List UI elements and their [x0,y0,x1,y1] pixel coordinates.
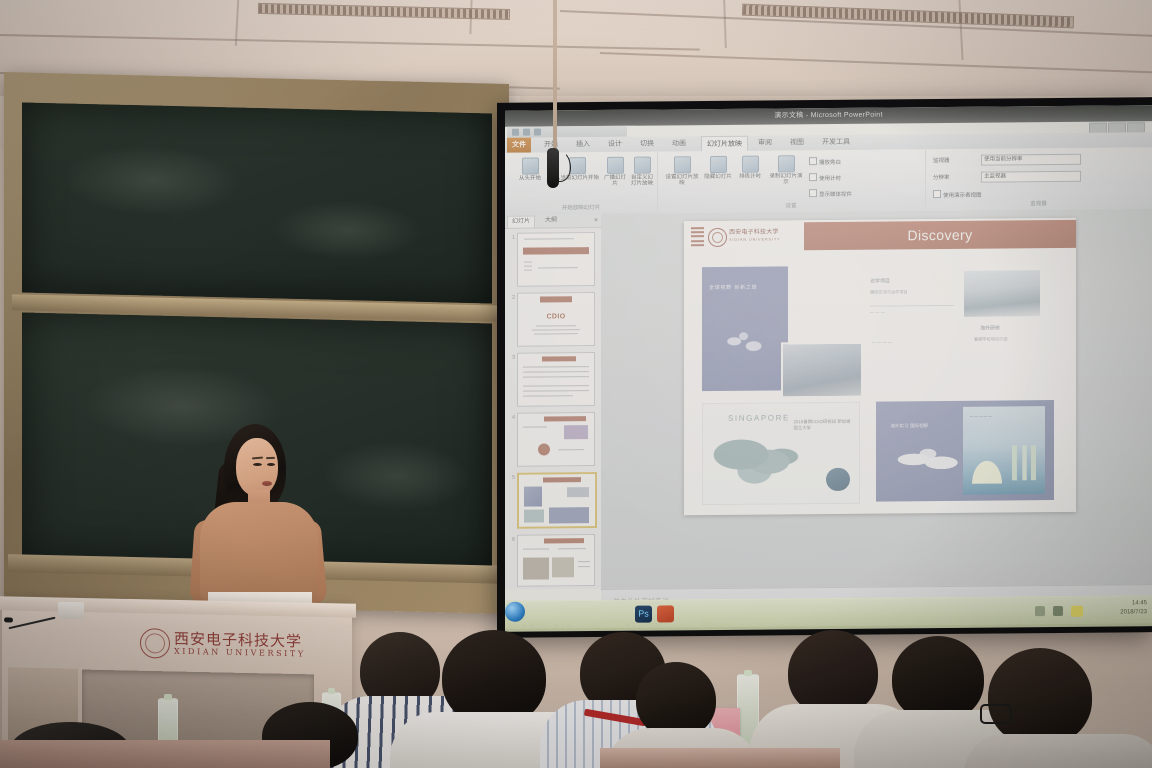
text-block-upper-right-body: 暑期学校项目介绍 [974,336,1048,343]
head [636,662,716,738]
university-seal-icon [708,228,727,247]
clock-date: 2018/7/23 [1120,608,1147,617]
thumbnail-number: 4 [508,415,515,421]
slideshow-start-icon [522,158,539,175]
tray-network-icon[interactable] [1035,606,1045,616]
thumbnail-row[interactable]: 6 [508,534,598,591]
hide-slide-icon [710,156,727,173]
current-slide[interactable]: 西安电子科技大学 XIDIAN UNIVERSITY Discovery 全球视… [684,218,1076,515]
ribbon-button-rehearse[interactable]: 排练计时 [735,156,765,180]
thumbnail-slide-1[interactable] [517,232,595,287]
singapore-map-graphic [712,429,809,492]
singapore-badge [826,467,849,491]
windows-taskbar[interactable]: Ps 14:45 2018/7/23 [505,595,1152,632]
thumbnail-row[interactable]: 1 [508,232,598,289]
ribbon-button-from-beginning[interactable]: 从头开始 [509,157,551,181]
singapore-card-body: 2018暑期CDIO研修班 新加坡国立大学 [793,419,852,432]
ribbon-button-record-narration[interactable]: 录制幻灯片演示 [769,155,803,185]
eyebrow-right [266,457,275,459]
slideshow-current-icon [569,157,586,174]
redo-icon[interactable] [534,129,541,136]
paper-cup [58,602,84,620]
pane-tab-slides[interactable]: 幻灯片 [507,216,535,228]
mouth [262,481,272,486]
singapore-label: SINGAPORE [728,413,790,423]
checkbox-label: 使用计时 [819,176,841,182]
slide-title: Discovery [804,220,1076,250]
select-resolution[interactable]: 主监视器 [981,171,1081,183]
slide-thumbnail-pane[interactable]: 幻灯片 大纲 × 1 2 [505,214,602,590]
thumbnail-row[interactable]: 5 [508,472,598,531]
ribbon-button-hide-slide[interactable]: 隐藏幻灯片 [703,156,733,180]
tab-design[interactable]: 设计 [603,137,627,152]
classroom-presentation-photo: 演示文稿 - Microsoft PowerPoint 文件 开始 插入 设计 … [0,0,1152,768]
eye-right [267,463,275,466]
singapore-card[interactable]: SINGAPORE 2018暑期CDIO研修班 新加坡国立大学 [702,402,860,505]
undo-icon[interactable] [523,129,530,136]
inner-page-text: — — — — — [970,413,1039,420]
eye-left [253,463,262,466]
ribbon-button-broadcast[interactable]: 广播幻灯片 [603,157,627,187]
taskbar-item-photoshop[interactable]: Ps [635,606,652,623]
ribbon-group-label: 开始放映幻灯片 [505,202,657,211]
projected-powerpoint-screen[interactable]: 演示文稿 - Microsoft PowerPoint 文件 开始 插入 设计 … [505,105,1152,629]
checkbox-label: 播放旁白 [819,160,841,166]
photo-thumb-left[interactable] [781,342,863,399]
close-pane-icon[interactable]: × [594,216,598,225]
university-name-en: XIDIAN UNIVERSITY [729,236,781,243]
text-block-left-caption: — — — — [872,339,932,346]
ribbon-button-label: 广播幻灯片 [604,175,626,187]
microphone-cable [553,0,557,150]
tray-ime-icon[interactable] [1071,606,1083,617]
rehearse-timing-icon [742,156,759,173]
ribbon-button-label: 从头开始 [519,176,541,182]
head [988,648,1092,746]
blouse [200,502,318,602]
university-name-cn: 西安电子科技大学 [729,229,779,235]
save-icon[interactable] [512,129,519,136]
thumbnail-slide-3[interactable] [517,352,595,407]
ribbon-group-monitors: 使用当前分辨率 监视器 主监视器 分辨率 使用演示者视图 监视器 [925,148,1152,208]
audience-row: 嵩 [0,630,1152,768]
slide-university-name: 西安电子科技大学 XIDIAN UNIVERSITY [729,229,781,243]
ribbon-button-label: 录制幻灯片演示 [769,173,802,185]
ribbon-group-setup: 设置幻灯片放映 隐藏幻灯片 排练计时 录制幻灯片演示 播放旁白 [657,150,926,210]
chalkboard-upper-panel [22,102,492,303]
start-button-icon[interactable] [505,602,525,622]
thumbnail-number: 6 [508,537,515,543]
tab-file[interactable]: 文件 [507,138,531,153]
checkbox-label: 使用演示者视图 [943,193,982,199]
world-map-graphic [890,443,968,480]
record-narration-icon [778,155,795,172]
brochure-cover-left[interactable]: 全球视野 创新之旅 [702,266,788,391]
tab-animations[interactable]: 动画 [667,136,691,151]
custom-show-icon [634,157,651,174]
slide-decor-bars [691,227,704,248]
slide-header: 西安电子科技大学 XIDIAN UNIVERSITY Discovery [684,218,1076,253]
ribbon-group-start-slideshow: 从头开始 从当前幻灯片开始 广播幻灯片 自定义幻灯片放映 开始放映幻灯片 [505,152,658,211]
checkbox-label: 显示媒体控件 [819,192,852,198]
checkbox-presenter-view[interactable]: 使用演示者视图 [933,190,982,199]
ribbon-button-custom-show[interactable]: 自定义幻灯片放映 [629,157,655,187]
presenter-speaker [186,424,336,624]
text-block-upper-left-body: 国际交流与合作项目 [870,289,960,296]
thumbnail-row[interactable]: 3 [508,352,598,409]
thumbnail-number: 1 [508,235,515,241]
tray-volume-icon[interactable] [1053,606,1063,616]
ribbon-button-label: 设置幻灯片放映 [665,174,698,186]
monitor-label: 监视器 [933,158,950,164]
ribbon-group-label: 设置 [657,200,925,210]
label-monitor: 监视器 [933,156,950,164]
checkbox-use-timings[interactable]: 使用计时 [809,173,841,182]
ribbon-button-label: 自定义幻灯片放映 [631,175,653,187]
tab-review[interactable]: 审阅 [753,135,777,150]
thumbnail-slide-2[interactable]: CDIO [517,292,595,347]
window-controls[interactable] [1089,121,1149,133]
blue-brochure-card[interactable]: 海外实习 国际视野 — — — — — [876,400,1054,502]
thumbnail-slide-5-selected[interactable] [517,472,597,529]
tab-view[interactable]: 视图 [785,135,809,150]
ribbon-button-label: 排练计时 [739,174,761,180]
inner-brochure-page: — — — — — [963,406,1045,495]
thumbnail-slide-6[interactable] [517,534,595,587]
label-resolution: 分辨率 [933,173,950,181]
checkbox-play-narration[interactable]: 播放旁白 [809,157,841,166]
ribbon[interactable]: 从头开始 从当前幻灯片开始 广播幻灯片 自定义幻灯片放映 开始放映幻灯片 [505,147,1152,216]
checkbox-show-media-controls[interactable]: 显示媒体控件 [809,189,852,198]
world-map-graphic [709,318,781,368]
shoulders [964,734,1152,768]
tab-insert[interactable]: 插入 [571,137,595,152]
audience-member [968,630,1152,768]
select-monitor[interactable]: 使用当前分辨率 [981,154,1081,166]
tab-developer[interactable]: 开发工具 [817,135,855,150]
desk-surface [0,740,330,768]
thumbnail-number: 5 [508,475,515,481]
skyline-graphic [1012,445,1038,480]
ceiling-microphone-icon [547,148,559,188]
pane-tab-strip[interactable]: 幻灯片 大纲 × [505,214,601,229]
ribbon-button-setup-show[interactable]: 设置幻灯片放映 [663,156,701,186]
thumbnail-slide-4[interactable] [517,412,595,467]
eyeglasses-icon [980,704,1012,724]
slide-title-banner: Discovery [804,220,1076,250]
text-block-upper-right-heading: 海外研修 [980,325,1000,332]
landmark-graphic [968,454,1006,484]
text-block-upper-left-heading: 访学项目 [870,277,890,284]
resolution-label: 分辨率 [933,175,950,181]
thumbnail-row[interactable]: 2 CDIO [508,292,598,349]
taskbar-clock[interactable]: 14:45 2018/7/23 [1120,599,1147,617]
ribbon-group-label: 监视器 [925,198,1152,208]
thumbnail-number: 3 [508,355,515,361]
desk-surface [600,748,840,768]
clock-time: 14:45 [1120,599,1147,608]
face [236,438,278,496]
taskbar-item-powerpoint[interactable] [657,605,674,622]
pane-tab-outline[interactable]: 大纲 [541,215,561,226]
photo-thumb-upper-right[interactable] [964,270,1040,317]
text-block-upper-left-sub: — — — [870,309,954,316]
brochure-cover-caption: 全球视野 创新之旅 [709,284,781,292]
thumbnail-number: 2 [508,295,515,301]
blue-card-caption: 海外实习 国际视野 [890,423,928,429]
broadcast-icon [607,157,624,174]
thumbnail-text-cdio: CDIO [518,313,594,321]
slide-editing-area[interactable]: 西安电子科技大学 XIDIAN UNIVERSITY Discovery 全球视… [601,209,1152,589]
setup-show-icon [674,156,691,173]
ribbon-button-label: 隐藏幻灯片 [704,174,732,180]
thumbnail-row[interactable]: 4 [508,412,598,469]
tab-transitions[interactable]: 切换 [635,136,659,151]
